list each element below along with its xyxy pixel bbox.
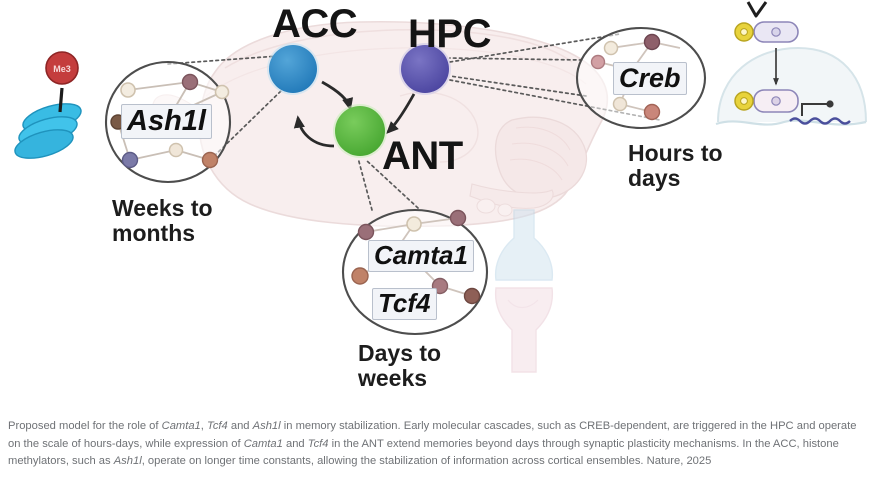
caption-gene-name: Ash1l xyxy=(114,455,142,467)
incoming-signal-arrow xyxy=(748,2,766,16)
gene-label-ash1l: Ash1l xyxy=(121,104,212,139)
me3-mark-text: Me3 xyxy=(53,64,71,74)
caption-gene-name: Tcf4 xyxy=(207,420,228,432)
memory-stabilization-diagram: Me3 xyxy=(0,0,870,412)
creb-cascade-illustration xyxy=(716,2,866,125)
figure-page: Me3 xyxy=(0,0,870,480)
caption-text: , operate on longer time constants, allo… xyxy=(142,455,712,467)
region-label-acc: ACC xyxy=(272,4,357,44)
histone-methylation-icon: Me3 xyxy=(12,52,84,164)
caption-gene-name: Tcf4 xyxy=(308,438,329,450)
caption-text: and xyxy=(283,438,308,450)
caption-text: Proposed model for the role of xyxy=(8,420,162,432)
region-node-ant[interactable] xyxy=(333,104,387,158)
creb-protein-lower xyxy=(735,90,798,112)
timescale-label-weeks-months: Weeks to months xyxy=(112,196,213,246)
region-label-hpc: HPC xyxy=(408,14,491,54)
gene-label-creb: Creb xyxy=(613,62,687,95)
caption-gene-name: Ash1l xyxy=(253,420,281,432)
caption-gene-name: Camta1 xyxy=(244,438,283,450)
caption-text: and xyxy=(228,420,253,432)
creb-protein-upper xyxy=(735,22,798,42)
gene-label-camta1: Camta1 xyxy=(368,240,474,272)
synapse-illustration xyxy=(496,210,553,372)
timescale-label-hours-days: Hours to days xyxy=(628,141,723,191)
timescale-label-days-weeks: Days to weeks xyxy=(358,341,441,391)
region-label-ant: ANT xyxy=(382,136,463,176)
caption-gene-name: Camta1 xyxy=(162,420,201,432)
gene-label-tcf4: Tcf4 xyxy=(372,288,437,320)
region-node-acc[interactable] xyxy=(267,43,319,95)
figure-caption: Proposed model for the role of Camta1, T… xyxy=(0,418,870,471)
